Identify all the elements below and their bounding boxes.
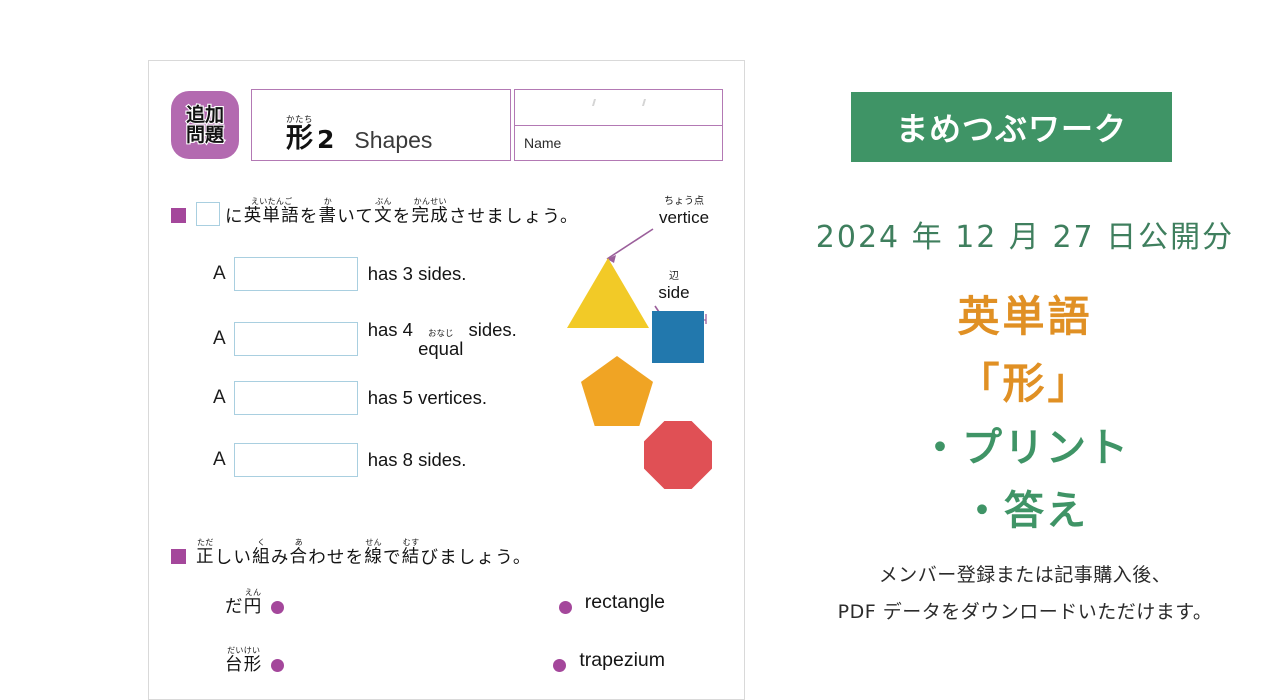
match-row-1: a だ えん 円 rectangle bbox=[225, 588, 665, 617]
q2-word-musu: むす 結 bbox=[402, 538, 421, 567]
q1-mid-2: いて bbox=[337, 209, 374, 227]
title-box: かたち 形 2 Shapes bbox=[251, 89, 511, 161]
equal-with-ruby: おなじequal bbox=[418, 329, 463, 358]
side-label: 辺 side bbox=[639, 271, 709, 302]
bullet-square-icon bbox=[171, 549, 186, 564]
article-label: A bbox=[213, 449, 226, 471]
publish-date: 2024 年 12 月 27 日公開分 bbox=[790, 212, 1260, 256]
name-box[interactable]: Name bbox=[514, 89, 723, 161]
octagon-shape bbox=[644, 421, 712, 489]
name-field-label: Name bbox=[524, 135, 561, 151]
q1-word-bun: ぶん 文 bbox=[374, 197, 393, 226]
footer-line-1: メンバー登録または記事購入後、 bbox=[790, 560, 1260, 587]
match-right-term-1[interactable]: rectangle bbox=[559, 591, 665, 614]
included-item-2: ・答え bbox=[790, 478, 1260, 536]
pentagon-shape bbox=[581, 356, 653, 426]
worksheet-page: 追加 問題 かたち 形 2 Shapes Name bbox=[148, 60, 745, 700]
title-kanji-with-ruby: かたち 形 bbox=[286, 116, 313, 153]
worksheet-header: 追加 問題 かたち 形 2 Shapes Name bbox=[171, 89, 723, 161]
article-label: A bbox=[213, 263, 226, 285]
article-label: A bbox=[213, 328, 226, 350]
sentence-row-2: A has 4 おなじequal sides. bbox=[213, 319, 517, 358]
included-item-1: ・プリント bbox=[790, 415, 1260, 473]
q2-s1: しい bbox=[215, 550, 252, 568]
badge-line-1: 追加 bbox=[186, 105, 224, 125]
q1-word-ka: か 書 bbox=[319, 197, 338, 226]
brand-banner-text: まめつぶワーク bbox=[896, 104, 1127, 150]
bullet-square-icon bbox=[171, 208, 186, 223]
triangle-shape bbox=[567, 258, 649, 328]
badge-line-2: 問題 bbox=[186, 125, 224, 145]
title-english: Shapes bbox=[354, 129, 432, 152]
brand-banner: まめつぶワーク bbox=[851, 92, 1172, 162]
sentence-row-4: A has 8 sides. bbox=[213, 443, 466, 477]
answer-chip-icon bbox=[196, 202, 220, 226]
q1-mid-3: を bbox=[393, 209, 412, 227]
title-kanji: 形 bbox=[286, 125, 313, 152]
q2-word-kumi: く 組 bbox=[252, 538, 271, 567]
sentence-row-1: A has 3 sides. bbox=[213, 257, 466, 291]
match-dot-left-2[interactable] bbox=[271, 659, 284, 672]
q1-tail: させましょう。 bbox=[449, 209, 579, 227]
match-dot-right-1[interactable] bbox=[559, 601, 572, 614]
match-right-term-2[interactable]: trapezium bbox=[553, 649, 665, 672]
q1-mid-1: を bbox=[300, 209, 319, 227]
match-dot-left-1[interactable] bbox=[271, 601, 284, 614]
q1-word-eitango: えいたんご 英単語 bbox=[244, 197, 300, 226]
answer-input-2[interactable] bbox=[234, 322, 358, 356]
q2-s3: わせを bbox=[308, 550, 364, 568]
date-field[interactable] bbox=[515, 90, 722, 126]
question-2-instruction: ただ 正 しい く 組 み あ 合 わせを せん 線 で むす 結 び bbox=[171, 538, 532, 567]
title-number: 2 bbox=[317, 127, 334, 152]
subject-title: 英単語 bbox=[790, 283, 1260, 344]
q2-s5: びましょう。 bbox=[420, 550, 531, 568]
article-label: A bbox=[213, 387, 226, 409]
topic-title: 「形」 bbox=[790, 350, 1260, 411]
footer-line-2: PDF データをダウンロードいただけます。 bbox=[790, 597, 1260, 624]
q2-s2: み bbox=[271, 550, 290, 568]
square-shape bbox=[652, 311, 704, 363]
screenshot-root: 追加 問題 かたち 形 2 Shapes Name bbox=[0, 0, 1280, 670]
question-1-instruction: に えいたんご 英単語 を か 書 いて ぶん 文 を かんせい 完成 させまし… bbox=[171, 197, 579, 226]
answer-input-1[interactable] bbox=[234, 257, 358, 291]
sentence-tail-3: has 5 vertices. bbox=[368, 387, 487, 409]
sentence-tail-2: has 4 おなじequal sides. bbox=[368, 319, 517, 358]
q2-word-tadashii: ただ 正 bbox=[196, 538, 215, 567]
q2-word-awa: あ 合 bbox=[290, 538, 309, 567]
match-left-term-2[interactable]: だいけい 台形 bbox=[225, 646, 284, 675]
q2-word-sen: せん 線 bbox=[364, 538, 383, 567]
answer-input-3[interactable] bbox=[234, 381, 358, 415]
match-dot-right-2[interactable] bbox=[553, 659, 566, 672]
sentence-tail-4: has 8 sides. bbox=[368, 449, 467, 471]
q2-s4: で bbox=[383, 550, 402, 568]
sentence-row-3: A has 5 vertices. bbox=[213, 381, 487, 415]
q1-word-kansei: かんせい 完成 bbox=[412, 197, 449, 226]
match-row-2: だいけい 台形 trapezium bbox=[225, 646, 665, 675]
q1-lead: に bbox=[225, 209, 244, 227]
extra-problem-badge: 追加 問題 bbox=[171, 91, 239, 159]
answer-input-4[interactable] bbox=[234, 443, 358, 477]
name-field[interactable]: Name bbox=[515, 126, 722, 160]
match-left-term-1[interactable]: a だ えん 円 bbox=[225, 588, 284, 617]
date-separator-marks bbox=[515, 99, 722, 106]
sentence-tail-1: has 3 sides. bbox=[368, 263, 467, 285]
